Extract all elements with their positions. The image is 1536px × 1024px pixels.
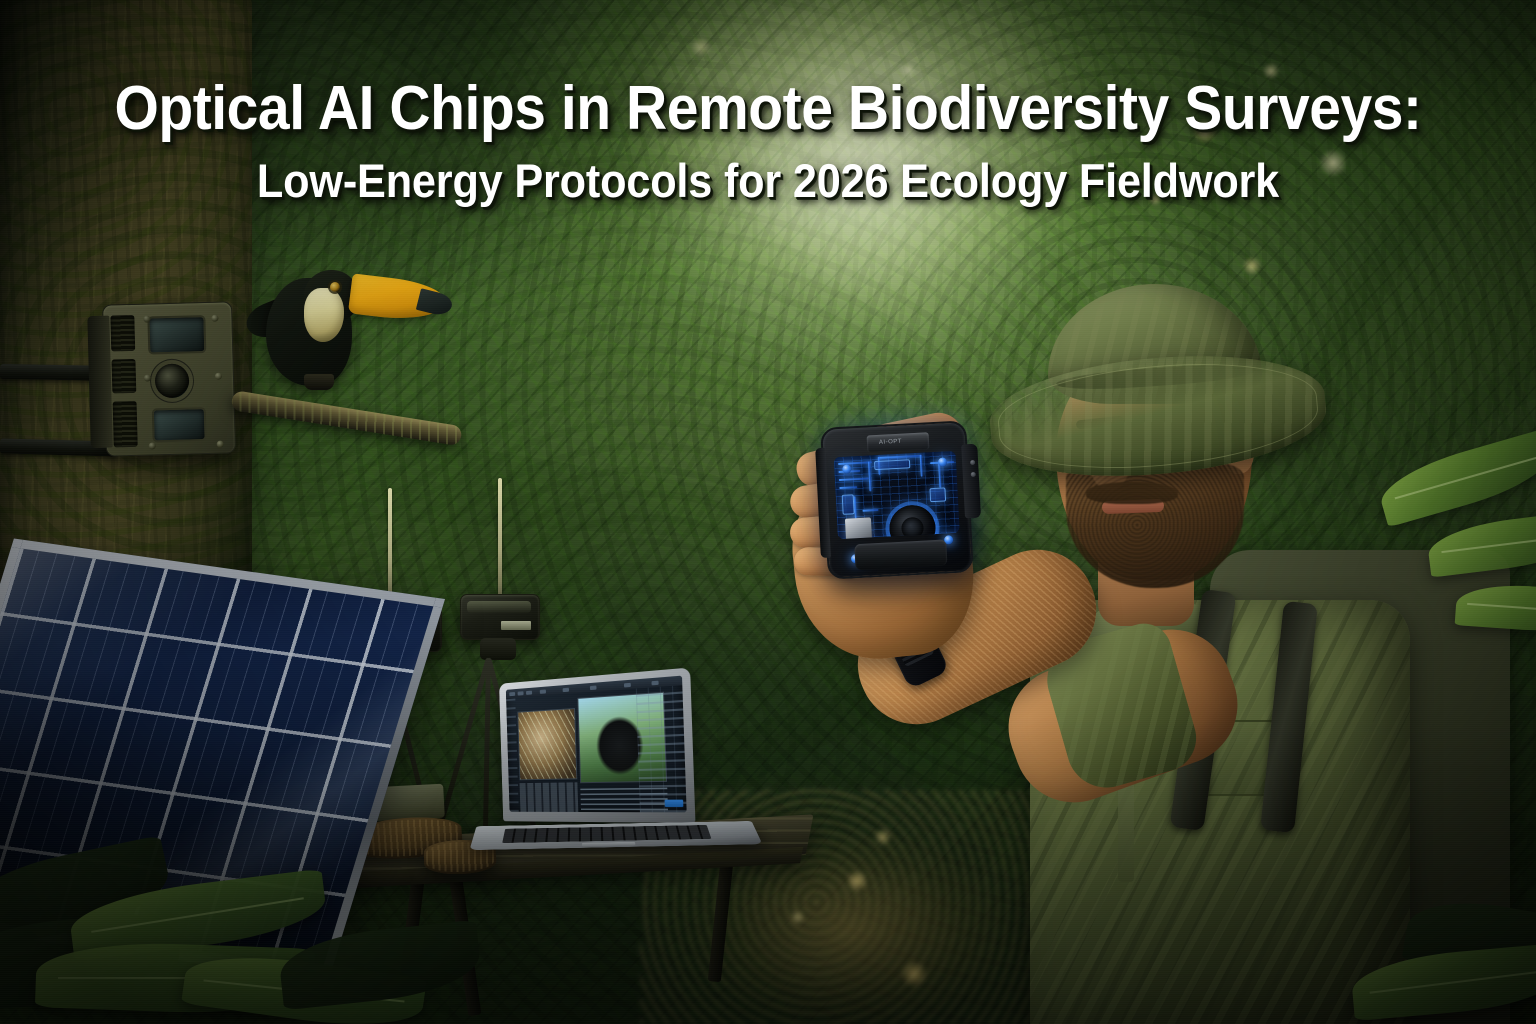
ir-led-array-top [110, 315, 135, 352]
specimen-photo-thumbnail[interactable] [517, 708, 577, 780]
tree-mounted-trail-camera[interactable] [102, 301, 236, 456]
chip-left [842, 494, 855, 515]
device-bottom-panel [854, 539, 947, 570]
trailcam-upper-window [147, 315, 206, 355]
device-label-text: AI-OPT [879, 439, 902, 446]
trailcam-screw-br [217, 441, 224, 448]
device-lens [888, 504, 936, 539]
ir-led-array-bottom [113, 401, 138, 448]
toucan-eye [330, 282, 340, 292]
optical-chip-module [845, 517, 872, 539]
bush-hat-brim [986, 344, 1331, 489]
sensor-label-2 [501, 621, 531, 630]
device-label-strip: AI-OPT [867, 432, 930, 452]
trailcam-screw-mr [215, 373, 222, 380]
trailcam-sensor-window [152, 407, 207, 442]
optical-ai-camera-trap[interactable]: AI-OPT [820, 420, 974, 579]
toucan-feet [304, 374, 334, 390]
app-right-panel[interactable] [636, 685, 687, 812]
laptop-lid [499, 668, 695, 824]
laptop-screen[interactable] [506, 676, 687, 813]
researcher-mustache [1086, 482, 1178, 504]
primary-action-button[interactable] [665, 800, 684, 807]
sensor-antenna-2 [498, 478, 502, 596]
laptop-base [469, 821, 762, 850]
trailcam-screw-bl [149, 442, 156, 449]
ir-led-array-mid [111, 359, 136, 394]
trailcam-lens [155, 363, 190, 398]
sensor-box-2 [460, 594, 540, 640]
toucan [252, 252, 452, 402]
trailcam-screw-ml [144, 374, 151, 381]
hero-banner: AI-OPT [0, 0, 1536, 1024]
thumbnail-grid[interactable] [520, 782, 579, 812]
field-laptop[interactable] [466, 676, 766, 866]
trailcam-hinge-side [87, 316, 112, 449]
tripod-head-2 [480, 638, 516, 660]
chip-right [929, 487, 946, 502]
chip-top [874, 459, 910, 470]
trailcam-screw-tr [211, 315, 218, 322]
laptop-trackpad[interactable] [582, 842, 635, 847]
laptop-keyboard[interactable] [502, 825, 711, 843]
